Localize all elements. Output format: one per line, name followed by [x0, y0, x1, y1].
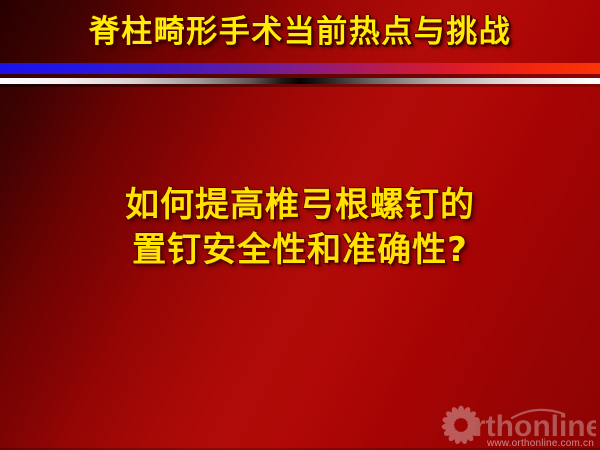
divider-shadow: [0, 84, 600, 87]
slide-title: 脊柱畸形手术当前热点与挑战: [0, 12, 600, 52]
body-line-2: 置钉安全性和准确性?: [0, 228, 600, 273]
presentation-slide: 脊柱畸形手术当前热点与挑战 如何提高椎弓根螺钉的 置钉安全性和准确性?: [0, 0, 600, 450]
divider-gradient-bar: [0, 63, 600, 74]
logo-arc-icon: [512, 410, 564, 418]
slide-body: 如何提高椎弓根螺钉的 置钉安全性和准确性?: [0, 183, 600, 273]
title-band: 脊柱畸形手术当前热点与挑战: [0, 0, 600, 63]
petal-ring: [441, 406, 480, 445]
body-line-1: 如何提高椎弓根螺钉的: [0, 183, 600, 228]
